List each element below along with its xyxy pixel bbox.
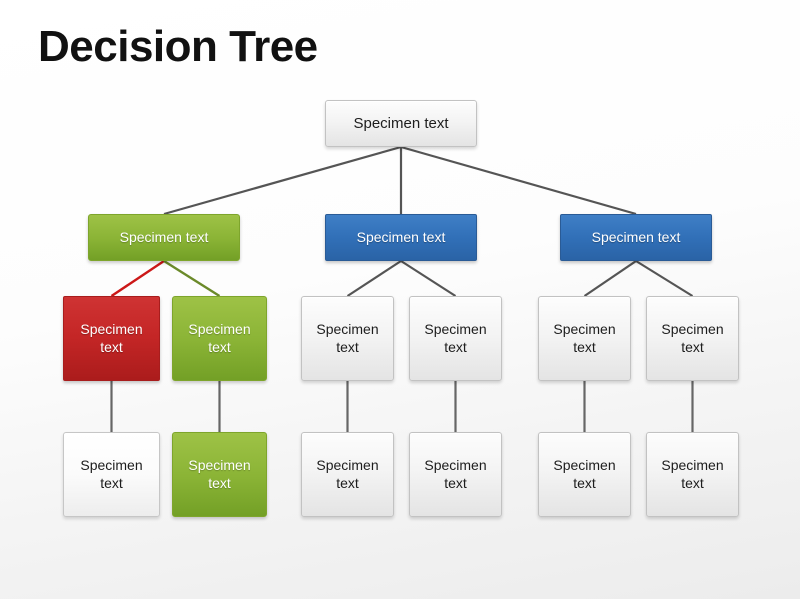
tree-node-l4f[interactable]: Specimen text <box>646 432 739 517</box>
tree-node-l3c[interactable]: Specimen text <box>301 296 394 381</box>
tree-node-label: Specimen text <box>588 229 685 247</box>
tree-node-root[interactable]: Specimen text <box>325 100 477 147</box>
connector-l2c-to-l3e <box>585 261 637 296</box>
tree-node-label: Specimen text <box>410 321 501 357</box>
slide-canvas: Decision Tree Specimen textSpecimen text… <box>0 0 800 599</box>
tree-node-l4d[interactable]: Specimen text <box>409 432 502 517</box>
connector-l2b-to-l3c <box>348 261 402 296</box>
connector-l2a-to-l3b <box>164 261 220 296</box>
tree-node-l3b[interactable]: Specimen text <box>172 296 267 381</box>
tree-node-l4e[interactable]: Specimen text <box>538 432 631 517</box>
tree-node-l4a[interactable]: Specimen text <box>63 432 160 517</box>
tree-node-label: Specimen text <box>173 321 266 357</box>
tree-node-l2b[interactable]: Specimen text <box>325 214 477 261</box>
connector-l2c-to-l3f <box>636 261 693 296</box>
tree-node-l2c[interactable]: Specimen text <box>560 214 712 261</box>
page-title: Decision Tree <box>38 22 318 72</box>
tree-node-l3f[interactable]: Specimen text <box>646 296 739 381</box>
tree-node-label: Specimen text <box>647 457 738 493</box>
tree-node-label: Specimen text <box>410 457 501 493</box>
tree-node-l4b[interactable]: Specimen text <box>172 432 267 517</box>
tree-node-l2a[interactable]: Specimen text <box>88 214 240 261</box>
connector-l2b-to-l3d <box>401 261 456 296</box>
tree-node-label: Specimen text <box>539 457 630 493</box>
tree-node-l3d[interactable]: Specimen text <box>409 296 502 381</box>
tree-node-label: Specimen text <box>302 457 393 493</box>
tree-node-l4c[interactable]: Specimen text <box>301 432 394 517</box>
tree-node-label: Specimen text <box>539 321 630 357</box>
connector-l2a-to-l3a <box>112 261 165 296</box>
connector-root-to-l2a <box>164 147 401 214</box>
connector-root-to-l2c <box>401 147 636 214</box>
tree-node-label: Specimen text <box>64 321 159 357</box>
tree-node-label: Specimen text <box>647 321 738 357</box>
tree-node-label: Specimen text <box>349 114 452 133</box>
tree-node-label: Specimen text <box>302 321 393 357</box>
tree-node-label: Specimen text <box>173 457 266 493</box>
tree-node-l3a[interactable]: Specimen text <box>63 296 160 381</box>
tree-node-l3e[interactable]: Specimen text <box>538 296 631 381</box>
tree-node-label: Specimen text <box>64 457 159 493</box>
tree-node-label: Specimen text <box>116 229 213 247</box>
tree-node-label: Specimen text <box>353 229 450 247</box>
